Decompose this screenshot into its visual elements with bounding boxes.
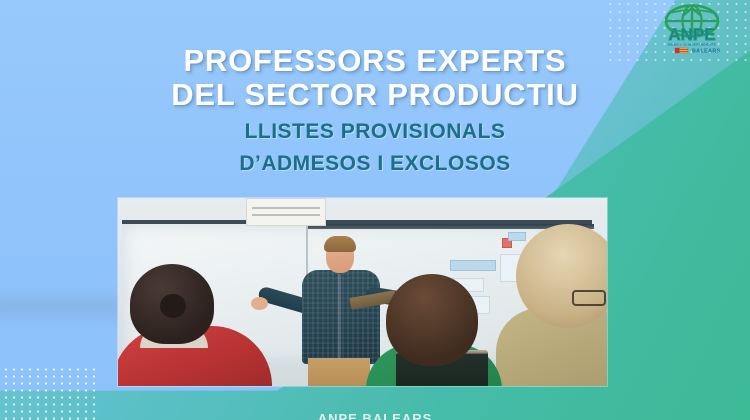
photo-teacher-trousers bbox=[308, 358, 370, 386]
photo-teacher-shirt bbox=[302, 270, 380, 364]
photo-teacher-placket bbox=[338, 274, 341, 360]
photo-student-red-bun bbox=[160, 294, 186, 318]
logo-wordmark: ANPE bbox=[668, 25, 715, 44]
photo-teacher-hand bbox=[251, 297, 268, 310]
photo-student-green-hair bbox=[386, 274, 478, 366]
photo-note bbox=[508, 232, 526, 241]
logo-region: BALEARS bbox=[692, 49, 721, 54]
slide-canvas: ANPE SINDICATO INDEPENDIENTE BALEARS PRO… bbox=[0, 0, 750, 420]
photo-note bbox=[450, 260, 496, 271]
balears-flag-icon bbox=[675, 48, 688, 53]
photo-teacher-hair bbox=[324, 236, 356, 252]
classroom-photo-content bbox=[118, 198, 607, 386]
logo-tagline: SINDICATO INDEPENDIENTE bbox=[668, 43, 716, 47]
anpe-logo: ANPE SINDICATO INDEPENDIENTE BALEARS bbox=[648, 2, 736, 54]
photo-student-glasses bbox=[572, 290, 606, 306]
photo-wall-sheets bbox=[246, 198, 326, 226]
dot-grid-bottom-left bbox=[2, 366, 98, 420]
classroom-photo bbox=[118, 198, 607, 386]
